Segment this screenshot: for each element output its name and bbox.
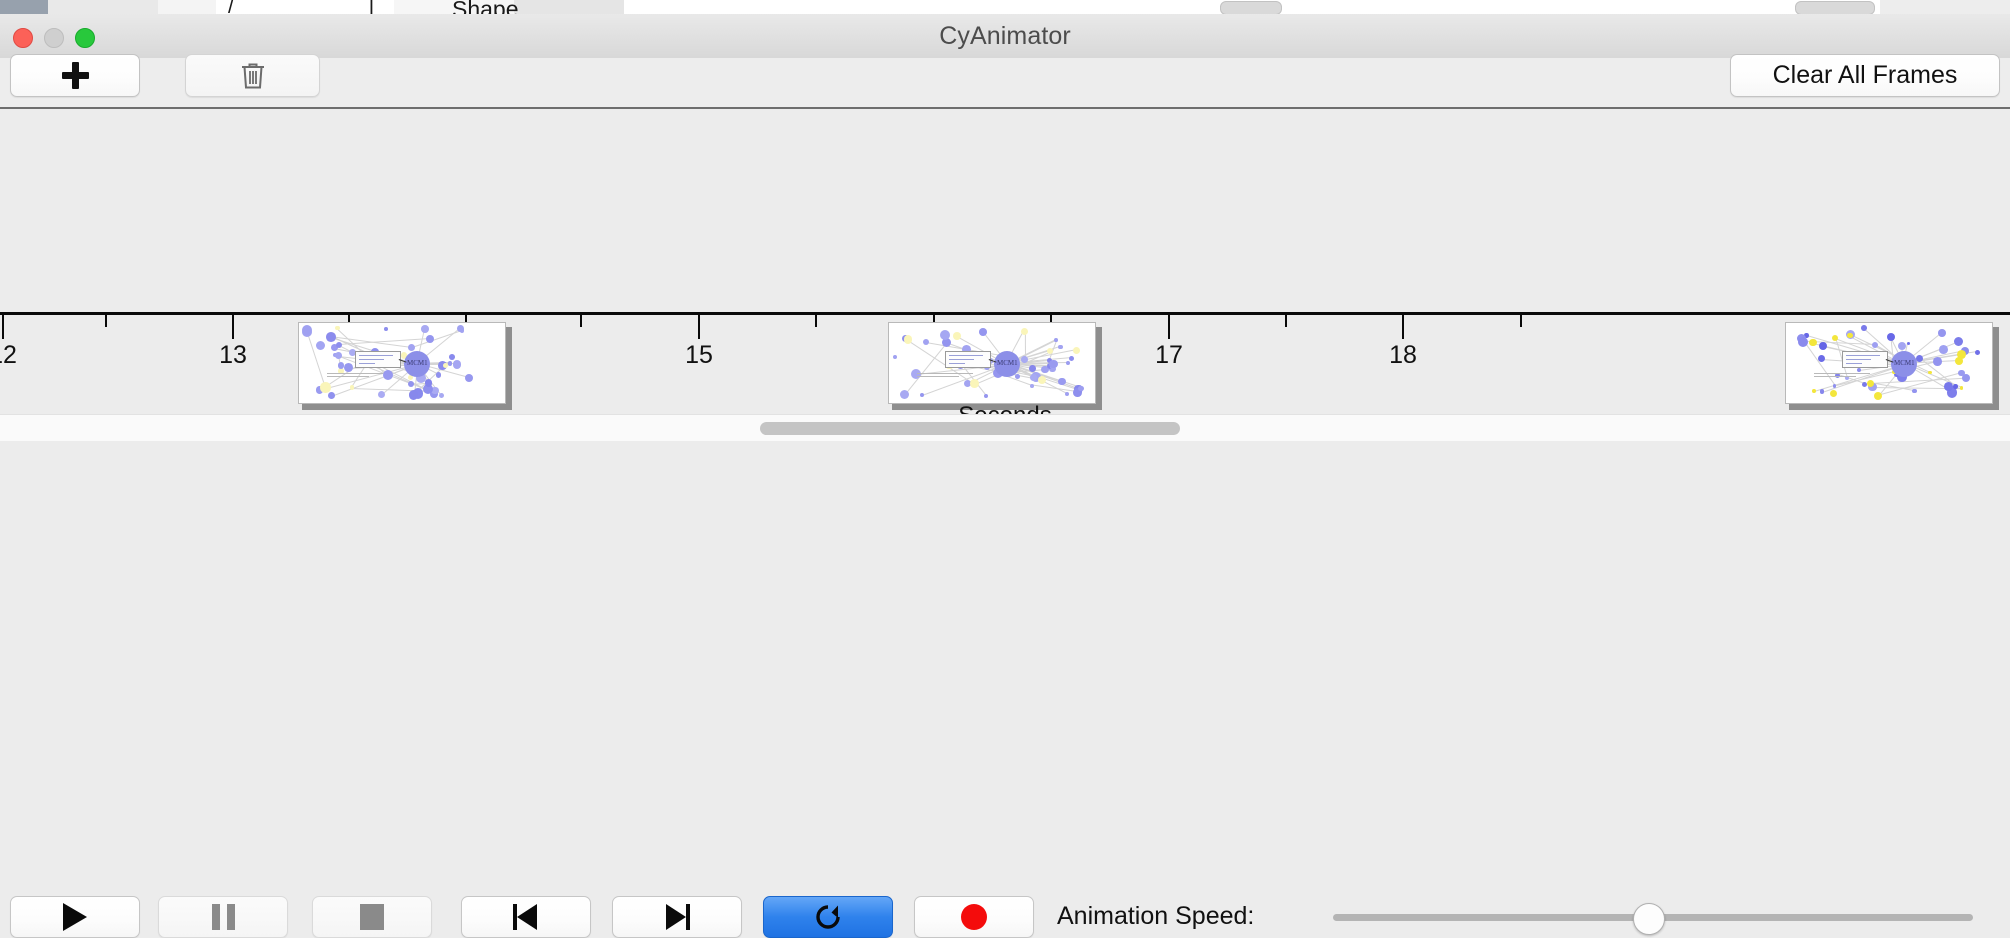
frame-thumbnail-image: MCM1 xyxy=(1785,322,1993,404)
graph-node xyxy=(453,360,462,369)
graph-node xyxy=(426,335,434,343)
graph-tooltip-line xyxy=(949,355,983,356)
playback-bar: Animation Speed: xyxy=(0,441,2010,510)
graph-tooltip xyxy=(945,351,991,368)
frame-thumbnail[interactable]: MCM1 xyxy=(298,322,512,410)
graph-tooltip-line xyxy=(1846,355,1880,356)
frame-thumbnail[interactable]: MCM1 xyxy=(1785,322,1999,410)
graph-node xyxy=(1975,350,1980,355)
graph-node xyxy=(940,330,950,340)
graph-tooltip-line xyxy=(359,359,384,360)
timeline-tick xyxy=(815,315,817,327)
graph-node xyxy=(344,363,353,372)
timeline-tick-label: 17 xyxy=(1155,341,1183,370)
loop-button[interactable] xyxy=(763,896,893,938)
graph-node xyxy=(1960,386,1964,390)
skip-forward-icon xyxy=(664,904,690,930)
graph-node xyxy=(1078,386,1084,392)
skip-to-end-button[interactable] xyxy=(612,896,742,938)
graph-tooltip-line xyxy=(949,359,974,360)
timeline-tick xyxy=(1285,315,1287,327)
timeline-tick-label: 12 xyxy=(0,341,17,370)
graph-node xyxy=(1065,392,1069,396)
graph-node xyxy=(1058,345,1062,349)
graph-hub-label: MCM1 xyxy=(1894,359,1915,367)
graph-node xyxy=(923,339,929,345)
graph-tooltip-line xyxy=(949,363,965,364)
graph-node xyxy=(1939,345,1948,354)
graph-node xyxy=(1957,350,1966,359)
graph-node xyxy=(920,393,924,397)
timeline-panel[interactable]: 12131415161718 MCM1MCM1MCM1 Seconds xyxy=(0,109,2010,414)
graph-node xyxy=(1874,392,1882,400)
stop-button[interactable] xyxy=(312,896,432,938)
graph-edge xyxy=(307,332,326,388)
graph-node xyxy=(1954,337,1963,346)
timeline-tick xyxy=(2,315,4,339)
graph-node xyxy=(1069,356,1074,361)
graph-node xyxy=(1912,389,1917,394)
graph-node xyxy=(316,341,325,350)
graph-node xyxy=(984,394,988,398)
stop-icon xyxy=(360,904,384,930)
background-window-strip: / ] Shape xyxy=(0,0,2010,14)
graph-caption-line xyxy=(1814,376,1856,377)
graph-node xyxy=(1812,389,1816,393)
play-icon xyxy=(63,903,87,931)
graph-node xyxy=(1809,339,1817,347)
graph-node xyxy=(1073,347,1080,354)
axis-title: Seconds xyxy=(0,402,2010,414)
graph-node xyxy=(449,354,455,360)
graph-node xyxy=(350,385,355,390)
timeline-tick xyxy=(580,315,582,327)
background-window-glyph: / xyxy=(228,0,234,14)
graph-node xyxy=(953,332,961,340)
animation-speed-label: Animation Speed: xyxy=(1057,902,1254,931)
graph-node xyxy=(1907,342,1910,345)
timeline-scrollbar[interactable] xyxy=(0,414,2010,442)
graph-tooltip xyxy=(1842,351,1888,368)
graph-node xyxy=(1830,390,1837,397)
graph-node xyxy=(1862,382,1867,387)
graph-node xyxy=(893,355,897,359)
graph-tooltip-line xyxy=(359,363,375,364)
graph-node xyxy=(1015,374,1020,379)
graph-node xyxy=(1857,368,1861,372)
timeline-axis xyxy=(0,312,2010,315)
clear-all-frames-button[interactable]: Clear All Frames xyxy=(1730,54,2000,97)
graph-node xyxy=(328,392,335,399)
window-title: CyAnimator xyxy=(0,14,2010,58)
timeline-tick xyxy=(698,315,700,339)
graph-tooltip-line xyxy=(1846,359,1871,360)
graph-hub-label: MCM1 xyxy=(997,359,1018,367)
graph-node xyxy=(1021,328,1028,335)
graph-node xyxy=(1066,361,1070,365)
graph-node xyxy=(326,332,336,342)
timeline-scrollbar-thumb[interactable] xyxy=(760,422,1180,435)
graph-node xyxy=(302,325,312,335)
graph-node xyxy=(900,390,909,399)
timeline-tick xyxy=(232,315,234,339)
graph-node xyxy=(408,381,414,387)
timeline-tick xyxy=(1168,315,1170,339)
graph-node xyxy=(1030,384,1034,388)
graph-node xyxy=(457,325,464,332)
graph-node xyxy=(436,372,442,378)
graph-node xyxy=(1818,355,1825,362)
timeline-tick-label: 18 xyxy=(1389,341,1417,370)
timeline-tick xyxy=(105,315,107,327)
graph-node xyxy=(383,370,393,380)
pause-button[interactable] xyxy=(158,896,288,938)
graph-node xyxy=(465,374,473,382)
graph-hub-label: MCM1 xyxy=(407,359,428,367)
graph-node xyxy=(979,328,987,336)
graph-node xyxy=(320,382,330,392)
clear-all-frames-label: Clear All Frames xyxy=(1773,61,1958,90)
graph-node xyxy=(378,391,385,398)
graph-node xyxy=(1928,371,1931,374)
frame-thumbnail[interactable]: MCM1 xyxy=(888,322,1102,410)
play-button[interactable] xyxy=(10,896,140,938)
graph-node xyxy=(1933,357,1942,366)
delete-frame-button[interactable] xyxy=(185,54,320,97)
add-frame-button[interactable] xyxy=(10,54,140,97)
record-icon xyxy=(961,904,987,930)
graph-node xyxy=(1054,338,1058,342)
background-window-title: Shape xyxy=(452,0,519,14)
graph-node xyxy=(1021,356,1028,363)
skip-to-start-button[interactable] xyxy=(461,896,591,938)
title-bar[interactable]: CyAnimator xyxy=(0,14,2010,59)
plus-icon xyxy=(62,62,89,89)
graph-node xyxy=(1887,333,1895,341)
graph-node xyxy=(970,379,979,388)
frame-thumbnail-image: MCM1 xyxy=(888,322,1096,404)
graph-tooltip xyxy=(355,351,401,368)
timeline-tick-label: 15 xyxy=(685,341,713,370)
graph-caption-line xyxy=(1814,373,1870,374)
background-window-glyph-2: ] xyxy=(368,0,374,14)
graph-caption-line xyxy=(327,376,369,377)
graph-node xyxy=(1898,342,1906,350)
timeline-tick xyxy=(1402,315,1404,339)
timeline-tick-label: 13 xyxy=(219,341,247,370)
trash-icon xyxy=(240,61,266,91)
graph-node xyxy=(448,361,453,366)
graph-node xyxy=(1861,325,1867,331)
record-button[interactable] xyxy=(914,896,1034,938)
graph-node xyxy=(421,325,429,333)
graph-node xyxy=(1938,329,1946,337)
frame-thumbnail-image: MCM1 xyxy=(298,322,506,404)
graph-node xyxy=(439,393,444,398)
graph-node xyxy=(1058,378,1065,385)
graph-caption-line xyxy=(917,373,973,374)
graph-node xyxy=(1049,360,1057,368)
graph-node xyxy=(1953,384,1958,389)
graph-node xyxy=(443,363,448,368)
graph-node xyxy=(384,327,388,331)
graph-node xyxy=(1798,337,1808,347)
timeline-tick xyxy=(1520,315,1522,327)
graph-node xyxy=(425,379,433,387)
graph-node xyxy=(409,390,418,399)
graph-caption-line xyxy=(917,376,959,377)
skip-back-icon xyxy=(513,904,539,930)
graph-node xyxy=(1820,389,1825,394)
animation-speed-slider-thumb[interactable] xyxy=(1633,903,1665,935)
graph-tooltip-line xyxy=(1846,363,1862,364)
cyanimator-window: / ] Shape CyAnimator Clear All Frames xyxy=(0,0,2010,510)
graph-caption-line xyxy=(327,373,383,374)
graph-node xyxy=(1030,374,1037,381)
pause-icon xyxy=(212,904,235,930)
graph-tooltip-line xyxy=(359,355,393,356)
loop-icon xyxy=(813,902,843,932)
graph-node xyxy=(1944,382,1953,391)
graph-node xyxy=(335,352,342,359)
graph-node xyxy=(1819,342,1827,350)
